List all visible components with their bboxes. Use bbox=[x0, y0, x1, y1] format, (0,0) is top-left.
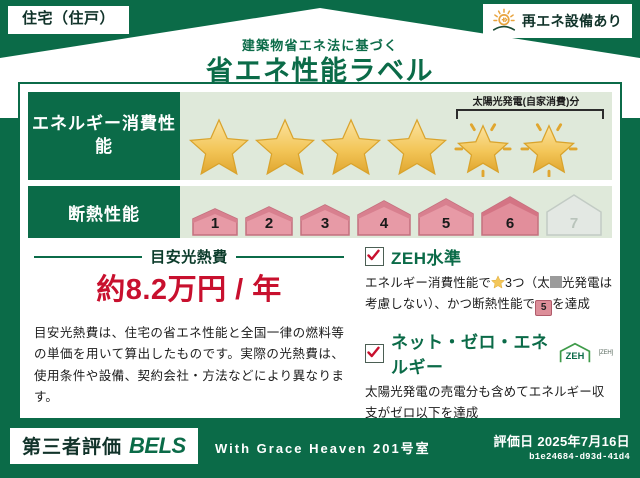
star-icon-solar bbox=[452, 117, 514, 177]
main-card: エネルギー消費性能 太陽光発電(自家消費)分 bbox=[18, 82, 622, 420]
criterion-net-zero-energy: ネット・ゼロ・エネルギー ZEH [ZEH] 太陽光発電の売電分も含めてエネルギ… bbox=[365, 328, 613, 424]
star-icon bbox=[320, 117, 382, 177]
housing-type-label: 住宅（住戸） bbox=[22, 10, 115, 27]
solar-caption: 太陽光発電(自家消費)分 bbox=[446, 93, 606, 108]
criterion-body-part1: エネルギー消費性能で bbox=[365, 276, 491, 290]
star-icon bbox=[254, 117, 316, 177]
grade-badge: 4 bbox=[355, 198, 413, 236]
criteria-section: ZEH水準 エネルギー消費性能で3つ（太光発電は考慮しない）、かつ断熱性能で5を… bbox=[365, 244, 613, 436]
criterion-body-part2: 3つ（太 bbox=[505, 276, 550, 290]
criterion-title: ZEH水準 bbox=[391, 244, 462, 269]
grade-badge: 2 bbox=[243, 204, 295, 236]
insulation-grade-panel: 1 2 3 4 5 bbox=[180, 186, 612, 238]
svg-text:ZEH: ZEH bbox=[565, 351, 584, 361]
evaluation-date: 評価日 2025年7月16日 bbox=[494, 431, 630, 450]
grade-value: 5 bbox=[416, 215, 476, 232]
grade-value: 7 bbox=[544, 215, 604, 232]
criterion-body-part4: を達成 bbox=[552, 297, 590, 311]
label-title: 建築物省エネ法に基づく 省エネ性能ラベル bbox=[0, 38, 640, 88]
checkbox-checked-icon bbox=[365, 344, 384, 363]
criterion-header: ネット・ゼロ・エネルギー ZEH [ZEH] bbox=[365, 328, 613, 378]
star-icon bbox=[491, 276, 505, 290]
grade-badge: 1 bbox=[190, 206, 240, 236]
footer: 第三者評価 BELS With Grace Heaven 201号室 評価日 2… bbox=[0, 424, 640, 478]
cost-heading: 目安光熱費 bbox=[34, 246, 344, 267]
evaluation-info: 評価日 2025年7月16日 b1e24684-d93d-41d4 bbox=[494, 431, 630, 462]
grade-badge: 3 bbox=[298, 202, 352, 236]
grade-value: 4 bbox=[355, 215, 413, 232]
grade-value: 1 bbox=[190, 215, 240, 232]
star-icon bbox=[188, 117, 250, 177]
insulation-performance-row: 断熱性能 1 2 3 bbox=[28, 186, 612, 238]
criterion-body: 太陽光発電の売電分も含めてエネルギー収支がゼロ以下を達成 bbox=[365, 382, 613, 424]
zeh-house-icon: ZEH bbox=[558, 342, 592, 364]
criterion-header: ZEH水準 bbox=[365, 244, 613, 269]
evaluation-date-label: 評価日 bbox=[494, 434, 534, 449]
star-rating bbox=[188, 117, 580, 177]
zeh-sub-label: [ZEH] bbox=[599, 350, 613, 356]
energy-cost-section: 目安光熱費 約8.2万円 / 年 目安光熱費は、住宅の省エネ性能と全国一律の燃料… bbox=[34, 246, 344, 409]
star-icon bbox=[386, 117, 448, 177]
cost-heading-label: 目安光熱費 bbox=[150, 246, 228, 267]
star-icon-solar bbox=[518, 117, 580, 177]
rule-right bbox=[236, 256, 344, 258]
insulation-performance-label: 断熱性能 bbox=[28, 186, 180, 238]
cost-amount: 約8.2万円 / 年 bbox=[34, 275, 344, 307]
housing-type-chip: 住宅（住戸） bbox=[8, 6, 129, 34]
criterion-body: エネルギー消費性能で3つ（太光発電は考慮しない）、かつ断熱性能で5を達成 bbox=[365, 273, 613, 316]
bels-jp-label: 第三者評価 bbox=[22, 432, 122, 459]
grade-badge-inactive: 7 bbox=[544, 192, 604, 236]
masked-character bbox=[550, 276, 562, 288]
grade-value: 6 bbox=[479, 215, 541, 232]
energy-performance-label: 住宅（住戸） 再エネ設備あり 建築物省エネ法に基づく bbox=[0, 0, 640, 478]
criterion-title: ネット・ゼロ・エネルギー bbox=[391, 328, 551, 378]
evaluation-id: b1e24684-d93d-41d4 bbox=[494, 452, 630, 462]
bels-badge: 第三者評価 BELS bbox=[10, 428, 198, 464]
energy-performance-row: エネルギー消費性能 太陽光発電(自家消費)分 bbox=[28, 92, 612, 180]
renewable-equipment-chip: 再エネ設備あり bbox=[483, 4, 632, 38]
grade-badge: 5 bbox=[416, 196, 476, 236]
evaluation-date-value: 2025年7月16日 bbox=[537, 434, 630, 449]
bels-en-label: BELS bbox=[129, 433, 186, 459]
grade-value: 3 bbox=[298, 215, 352, 232]
building-name: With Grace Heaven 201号室 bbox=[215, 438, 431, 457]
criterion-zeh-level: ZEH水準 エネルギー消費性能で3つ（太光発電は考慮しない）、かつ断熱性能で5を… bbox=[365, 244, 613, 316]
sun-icon bbox=[491, 8, 517, 34]
checkbox-checked-icon bbox=[365, 247, 384, 266]
rule-left bbox=[34, 256, 142, 258]
energy-performance-label: エネルギー消費性能 bbox=[28, 92, 180, 180]
renewable-equipment-label: 再エネ設備あり bbox=[522, 11, 622, 31]
energy-star-panel: 太陽光発電(自家消費)分 bbox=[180, 92, 612, 180]
inline-grade-badge: 5 bbox=[535, 300, 552, 316]
grade-value: 2 bbox=[243, 215, 295, 232]
grade-badge: 6 bbox=[479, 194, 541, 236]
title-subtitle: 建築物省エネ法に基づく bbox=[0, 38, 640, 54]
insulation-grades: 1 2 3 4 5 bbox=[190, 192, 604, 236]
cost-note: 目安光熱費は、住宅の省エネ性能と全国一律の燃料等の単価を用いて算出したものです。… bbox=[34, 323, 344, 409]
